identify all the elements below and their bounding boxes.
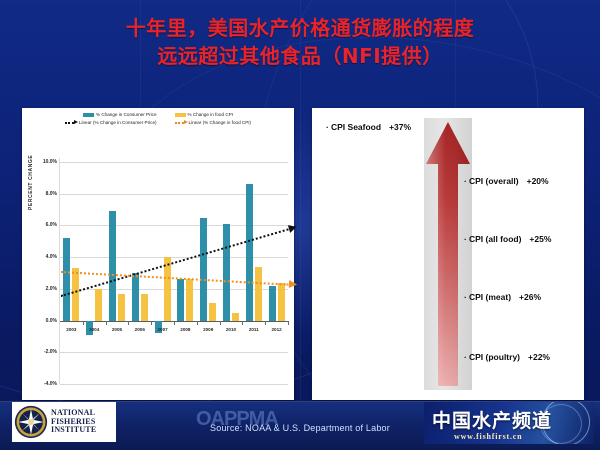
callout-cpi-seafood: ·CPI Seafood+37% [326, 122, 411, 132]
chart-bar [223, 224, 230, 321]
arrow-panel: ·CPI Seafood+37% ·CPI (overall)+20% ·CPI… [312, 108, 584, 400]
chart-y-tick-label: 6.0% [31, 222, 57, 228]
callout-cpi-all-food: ·CPI (all food)+25% [464, 234, 551, 244]
callout-value: +26% [519, 292, 541, 302]
callout-cpi-meat: ·CPI (meat)+26% [464, 292, 541, 302]
channel-brand-url: www.fishfirst.cn [454, 432, 522, 441]
chart-gridline [60, 352, 288, 353]
chart-x-tick-label: 2010 [220, 327, 242, 332]
up-arrow-icon [425, 120, 471, 388]
chart-y-tick-label: 2.0% [31, 286, 57, 292]
chart-x-tick [220, 321, 221, 325]
slide-title: 十年里，美国水产价格通货膨胀的程度 远远超过其他食品（NFI提供） [0, 14, 600, 71]
chart-x-tick-label: 2005 [106, 327, 128, 332]
chart-gridline [60, 384, 288, 385]
chart-bar [95, 289, 102, 321]
chart-bar [209, 303, 216, 320]
chart-x-tick [197, 321, 198, 325]
slide-root: 十年里，美国水产价格通货膨胀的程度 远远超过其他食品（NFI提供） % Chan… [0, 0, 600, 450]
callout-label: CPI (overall) [469, 176, 519, 186]
chart-y-tick-label: 8.0% [31, 191, 57, 197]
chart-bar [246, 184, 253, 320]
callout-label: CPI (poultry) [469, 352, 520, 362]
chart-bar [177, 279, 184, 320]
chart-x-tick-label: 2012 [266, 327, 288, 332]
chart-trendline-arrowhead [287, 223, 297, 233]
chart-y-tick-label: -2.0% [31, 349, 57, 355]
chart-bar [255, 267, 262, 321]
chart-trendline-arrowhead [288, 280, 296, 288]
chart-x-tick [106, 321, 107, 325]
channel-brand: 中国水产频道 www.fishfirst.cn [424, 402, 594, 444]
callout-value: +20% [527, 176, 549, 186]
chart-gridline [60, 289, 288, 290]
callout-cpi-overall: ·CPI (overall)+20% [464, 176, 549, 186]
chart-bar [200, 218, 207, 321]
chart-x-tick-label: 2009 [197, 327, 219, 332]
chart-x-tick-label: 2011 [243, 327, 265, 332]
chart-x-tick-label: 2004 [83, 327, 105, 332]
callout-value: +22% [528, 352, 550, 362]
chart-x-tick-label: 2007 [152, 327, 174, 332]
chart-x-tick-label: 2003 [60, 327, 82, 332]
channel-brand-name: 中国水产频道 [432, 406, 552, 433]
callout-value: +25% [529, 234, 551, 244]
slide-title-line-1: 十年里，美国水产价格通货膨胀的程度 [0, 14, 600, 42]
chart-y-tick-label: -4.0% [31, 381, 57, 387]
chart-y-axis-line [59, 158, 60, 384]
chart-x-tick [151, 321, 152, 325]
chart-x-tick [288, 321, 289, 325]
chart-x-tick [128, 321, 129, 325]
chart-gridline [60, 257, 288, 258]
chart-gridline [60, 225, 288, 226]
callout-cpi-poultry: ·CPI (poultry)+22% [464, 352, 550, 362]
chart-gridline [60, 194, 288, 195]
chart-plot-area: PERCENT CHANGE 10.0%8.0%6.0%4.0%2.0%0.0%… [22, 108, 294, 400]
callout-label: CPI (all food) [469, 234, 521, 244]
callout-label: CPI Seafood [331, 122, 381, 132]
chart-x-tick-label: 2006 [129, 327, 151, 332]
compass-seal-icon [14, 405, 48, 439]
chart-x-tick [174, 321, 175, 325]
chart-bar [72, 268, 79, 320]
chart-y-tick-label: 10.0% [31, 159, 57, 165]
chart-y-tick-label: 0.0% [31, 318, 57, 324]
chart-x-tick [265, 321, 266, 325]
callout-value: +37% [389, 122, 411, 132]
callout-label: CPI (meat) [469, 292, 511, 302]
chart-bar [141, 294, 148, 321]
chart-x-tick [242, 321, 243, 325]
chart-panel: % Change in Consumer Price % Change in f… [22, 108, 294, 400]
chart-bar [132, 273, 139, 321]
chart-bar [63, 238, 70, 320]
chart-y-tick-label: 4.0% [31, 254, 57, 260]
chart-bar [269, 286, 276, 321]
nfi-logo: NATIONAL FISHERIES INSTITUTE [12, 402, 116, 442]
slide-title-line-2: 远远超过其他食品（NFI提供） [0, 42, 600, 70]
chart-x-tick-label: 2008 [174, 327, 196, 332]
chart-y-axis-label: PERCENT CHANGE [28, 196, 34, 210]
chart-gridline [60, 162, 288, 163]
chart-bar [109, 211, 116, 320]
chart-bar [278, 283, 285, 321]
chart-x-tick [83, 321, 84, 325]
chart-bar [186, 279, 193, 320]
chart-bar [232, 313, 239, 321]
chart-bar [118, 294, 125, 321]
